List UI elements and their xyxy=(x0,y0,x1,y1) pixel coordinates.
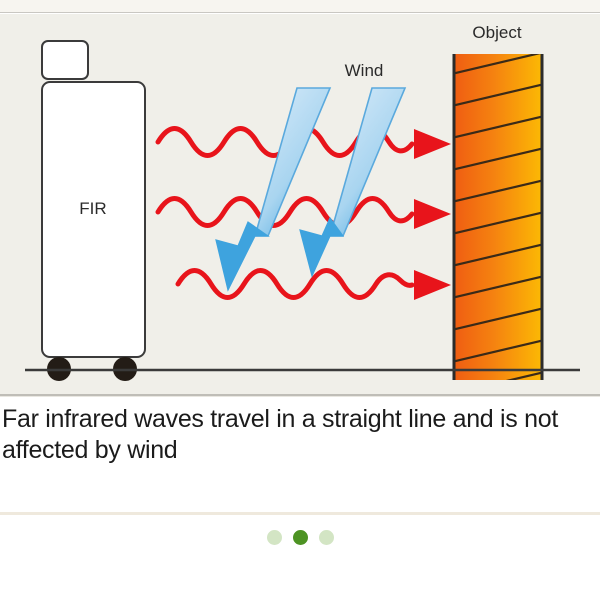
carousel-dot-3[interactable] xyxy=(319,530,334,545)
diagram-svg: Object Wind FIR xyxy=(0,14,600,396)
infrared-arrowhead-2 xyxy=(414,199,451,229)
illustration-panel: Object Wind FIR xyxy=(0,14,600,396)
wind-label: Wind xyxy=(345,61,384,80)
wind-arrow-left-shaft xyxy=(255,88,330,236)
fir-label: FIR xyxy=(79,199,106,218)
object-label: Object xyxy=(472,23,521,42)
fir-top-box xyxy=(42,41,88,79)
lower-divider xyxy=(0,512,600,515)
wind-arrow-right-head xyxy=(300,218,343,276)
wind-arrow-left-head xyxy=(216,222,268,290)
infrared-wave-2 xyxy=(158,199,412,226)
wind-arrow-right-shaft xyxy=(330,88,405,236)
page-root: Object Wind FIR Far infrared waves trave… xyxy=(0,0,600,600)
wind-arrows-group xyxy=(216,88,405,290)
panel-divider-highlight xyxy=(0,396,600,397)
infrared-wave-3 xyxy=(178,271,412,298)
carousel-dot-2[interactable] xyxy=(293,530,308,545)
caption-block: Far infrared waves travel in a straight … xyxy=(0,404,600,466)
carousel-dots xyxy=(0,530,600,545)
caption-line-2: affected by wind xyxy=(2,435,596,466)
top-header-strip xyxy=(0,0,600,13)
infrared-arrowheads-group xyxy=(414,129,451,300)
carousel-dot-1[interactable] xyxy=(267,530,282,545)
infrared-arrowhead-3 xyxy=(414,270,451,300)
infrared-arrowhead-1 xyxy=(414,129,451,159)
fir-body xyxy=(42,82,145,357)
caption-line-1: Far infrared waves travel in a straight … xyxy=(2,404,596,435)
object-group xyxy=(443,50,553,396)
